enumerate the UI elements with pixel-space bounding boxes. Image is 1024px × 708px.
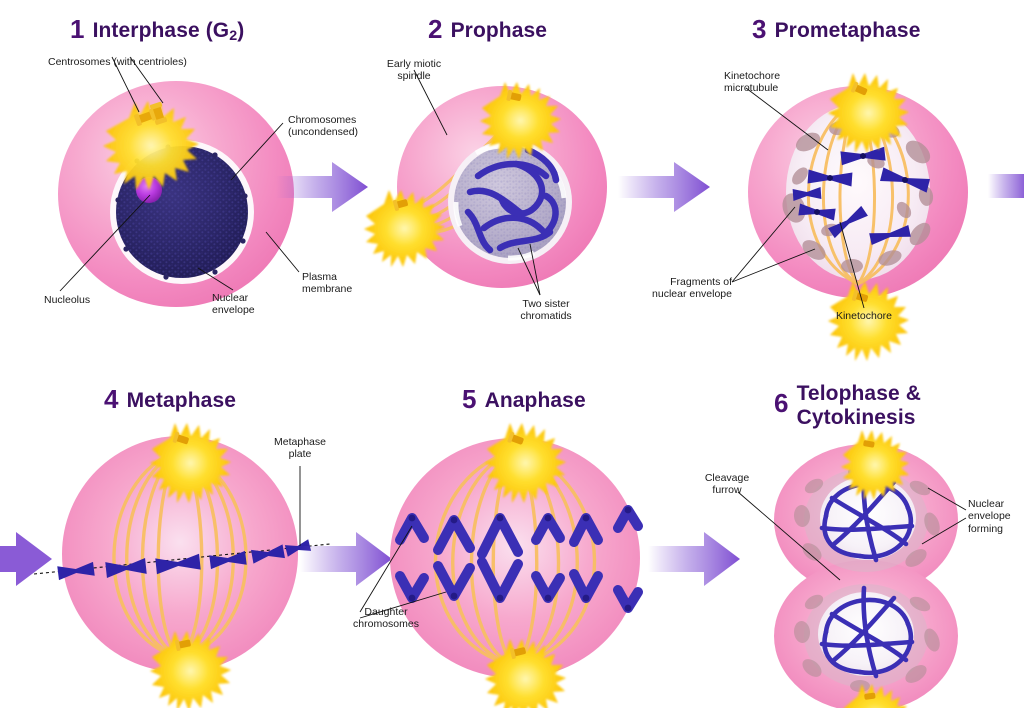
label-kinetochore-microtubule: Kinetochore microtubule <box>724 70 780 95</box>
label-early-spindle: Early miotic spindle <box>364 58 464 83</box>
label-daughter-chromosomes: Daughter chromosomes <box>336 606 436 631</box>
label-kinetochore: Kinetochore <box>816 310 912 322</box>
panel-anaphase: 5Anaphase <box>350 368 680 708</box>
panel-prometaphase: 3Prometaphase <box>680 0 1024 360</box>
arrow-prometaphase-to-metaphase <box>988 168 1024 208</box>
label-cleavage-furrow: Cleavage furrow <box>686 472 768 497</box>
label-nuclear-envelope-forming: Nuclear envelope forming <box>968 498 1011 535</box>
label-metaphase-plate: Metaphase plate <box>258 436 342 461</box>
panel-metaphase: 4Metaphase <box>0 368 350 708</box>
label-nucleolus: Nucleolus <box>44 294 90 306</box>
mitosis-diagram: 1Interphase (G2) <box>0 0 1024 708</box>
label-plasma-membrane: Plasma membrane <box>302 271 352 296</box>
label-envelope-fragments: Fragments of nuclear envelope <box>628 276 732 301</box>
prometaphase-cell-graphic <box>680 0 1024 360</box>
panel-telophase: 6Telophase &Cytokinesis <box>680 368 1024 708</box>
label-chromosomes: Chromosomes (uncondensed) <box>288 114 358 139</box>
label-nuclear-envelope: Nuclear envelope <box>212 292 255 317</box>
anaphase-cell-graphic <box>350 368 680 708</box>
label-sister-chromatids: Two sister chromatids <box>498 298 594 323</box>
telophase-cell-graphic <box>680 368 1024 708</box>
metaphase-cell-graphic <box>0 368 350 708</box>
label-centrosomes: Centrosomes (with centrioles) <box>48 56 187 68</box>
